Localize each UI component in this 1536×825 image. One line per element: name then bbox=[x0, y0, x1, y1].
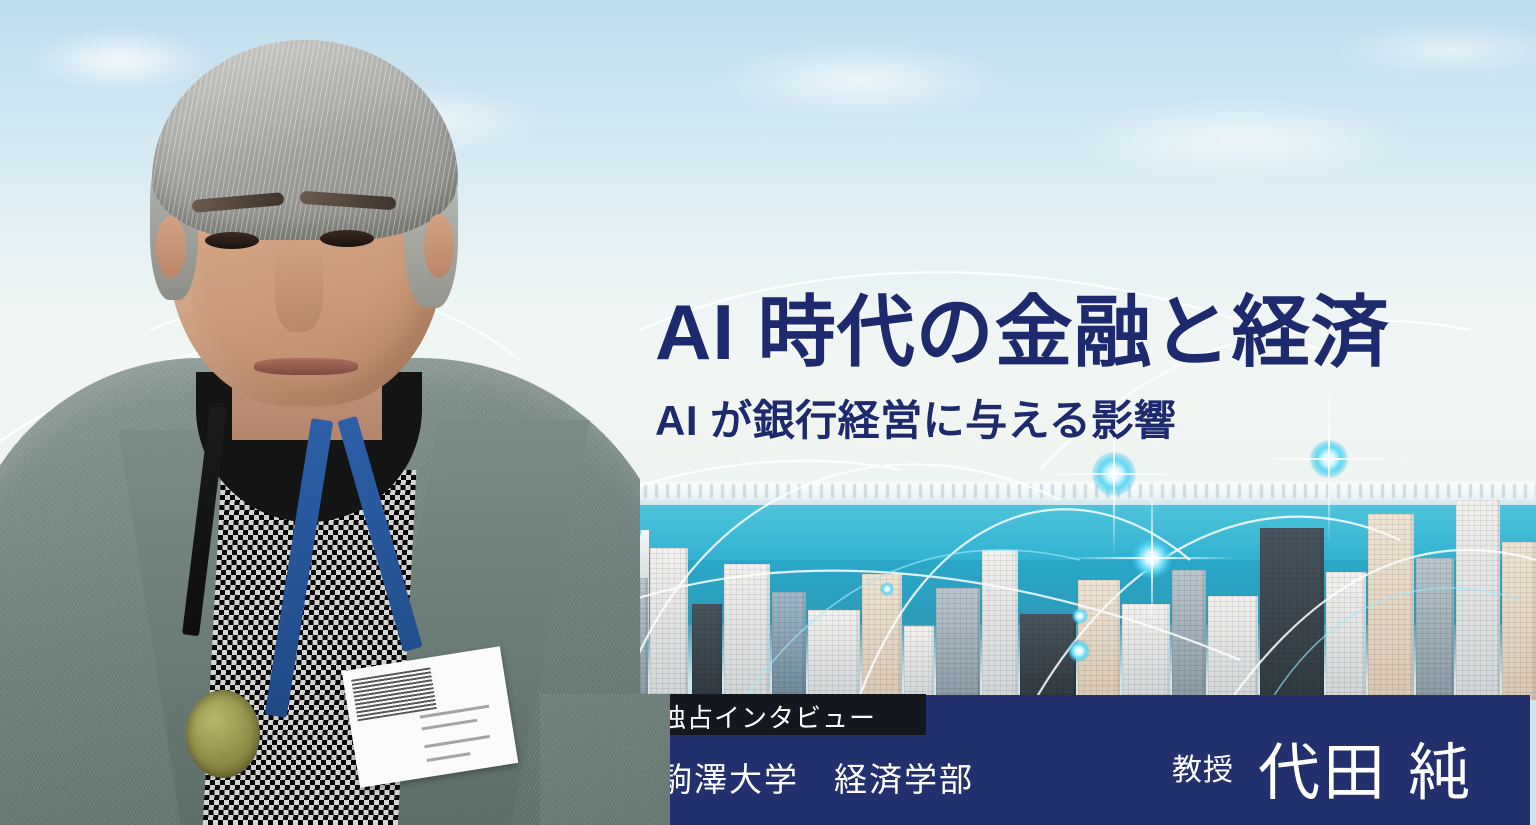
building bbox=[1416, 558, 1454, 700]
affiliation-text: 駒澤大学 経済学部 bbox=[659, 753, 974, 801]
banner-canvas: AI 時代の金融と経済 AI が銀行経営に与える影響 独占インタビュー 駒澤大学… bbox=[0, 0, 1536, 825]
building bbox=[982, 550, 1018, 700]
name-card-line bbox=[422, 719, 478, 731]
ear-left bbox=[156, 216, 186, 278]
building bbox=[1456, 500, 1500, 700]
building bbox=[1122, 604, 1170, 700]
nose bbox=[275, 246, 323, 332]
building bbox=[904, 626, 934, 700]
badge-label: 独占インタビュー bbox=[660, 698, 876, 735]
exclusive-interview-badge: 独占インタビュー bbox=[630, 694, 926, 735]
ear-right bbox=[424, 214, 454, 278]
building bbox=[1020, 614, 1076, 700]
shoulder-over-bar bbox=[540, 694, 670, 825]
eye-left bbox=[205, 232, 259, 249]
building bbox=[1326, 572, 1366, 700]
name-card-logo bbox=[351, 667, 437, 721]
name-card-line bbox=[424, 735, 490, 748]
cityscape bbox=[600, 430, 1536, 700]
person-name: 代田 純 bbox=[1258, 722, 1473, 812]
building bbox=[1368, 514, 1414, 700]
building bbox=[1502, 542, 1536, 700]
building bbox=[808, 610, 860, 700]
building bbox=[936, 588, 980, 700]
building bbox=[772, 592, 806, 700]
conference-name-card bbox=[342, 646, 518, 788]
building bbox=[650, 548, 688, 700]
shoulder-silhouette bbox=[540, 694, 670, 825]
building bbox=[1208, 596, 1258, 700]
page-title: AI 時代の金融と経済 bbox=[655, 293, 1455, 371]
mouth bbox=[254, 358, 358, 375]
building bbox=[692, 604, 722, 700]
page-subtitle: AI が銀行経営に与える影響 bbox=[655, 400, 1455, 442]
eye-right bbox=[320, 230, 374, 247]
building bbox=[862, 574, 902, 700]
building bbox=[1078, 580, 1120, 700]
rank-text: 教授 bbox=[1172, 745, 1234, 789]
building bbox=[1260, 528, 1324, 700]
building bbox=[724, 564, 770, 700]
medal-pendant bbox=[186, 690, 260, 778]
building bbox=[1172, 570, 1206, 700]
name-card-line bbox=[427, 752, 471, 762]
